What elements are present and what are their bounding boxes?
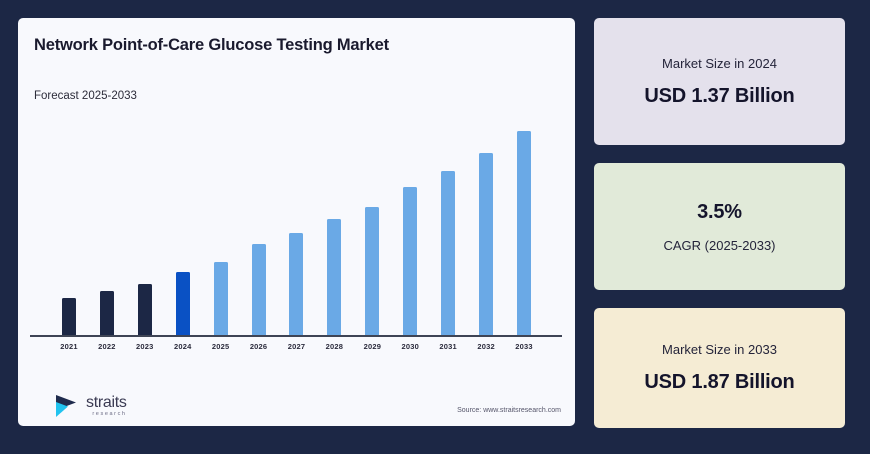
bar-2028[interactable] — [327, 219, 341, 336]
x-tick-2025: 2025 — [202, 342, 240, 351]
source-attribution: Source: www.straitsresearch.com — [457, 407, 561, 414]
stat-card-value: USD 1.37 Billion — [644, 85, 794, 108]
bar-2023[interactable] — [138, 284, 152, 336]
bar-slot-2033 — [505, 118, 543, 336]
bar-slot-2027 — [278, 118, 316, 336]
stat-card-cagr: 3.5%CAGR (2025-2033) — [594, 163, 845, 290]
bar-slot-2021 — [50, 118, 88, 336]
bar-slot-2022 — [88, 118, 126, 336]
bar-2022[interactable] — [100, 291, 114, 336]
stat-card-market-size-2033: Market Size in 2033USD 1.87 Billion — [594, 308, 845, 428]
stat-card-label: Market Size in 2033 — [662, 342, 777, 357]
bar-2024[interactable] — [176, 272, 190, 336]
logo-wordmark: straits research — [86, 395, 127, 418]
stat-card-label: CAGR (2025-2033) — [664, 238, 776, 253]
bar-slot-2024 — [164, 118, 202, 336]
bar-chart-plot — [34, 118, 559, 336]
x-tick-2021: 2021 — [50, 342, 88, 351]
bar-2033[interactable] — [517, 131, 531, 336]
stat-card-value: USD 1.87 Billion — [644, 371, 794, 394]
bar-2027[interactable] — [289, 233, 303, 336]
straits-research-logo: straits research — [54, 393, 127, 419]
bar-2030[interactable] — [403, 187, 417, 336]
infographic-root: Network Point-of-Care Glucose Testing Ma… — [0, 0, 870, 454]
stat-card-market-size-2024: Market Size in 2024USD 1.37 Billion — [594, 18, 845, 145]
chart-panel: Network Point-of-Care Glucose Testing Ma… — [18, 18, 575, 426]
bar-2026[interactable] — [252, 244, 266, 336]
bar-2021[interactable] — [62, 298, 76, 336]
x-tick-2023: 2023 — [126, 342, 164, 351]
chart-subtitle: Forecast 2025-2033 — [34, 90, 137, 102]
bar-slot-2031 — [429, 118, 467, 336]
bar-slot-2029 — [353, 118, 391, 336]
x-axis-line — [30, 335, 562, 337]
bar-slot-2032 — [467, 118, 505, 336]
stat-card-label: Market Size in 2024 — [662, 56, 777, 71]
bar-slot-2025 — [202, 118, 240, 336]
logo-arrow-icon — [54, 393, 82, 419]
bar-2031[interactable] — [441, 171, 455, 336]
x-tick-2033: 2033 — [505, 342, 543, 351]
bar-slot-2028 — [315, 118, 353, 336]
x-tick-2024: 2024 — [164, 342, 202, 351]
stat-card-value: 3.5% — [697, 201, 742, 224]
x-tick-2032: 2032 — [467, 342, 505, 351]
x-tick-2028: 2028 — [315, 342, 353, 351]
x-axis-tick-labels: 2021202220232024202520262027202820292030… — [34, 342, 559, 351]
x-tick-2022: 2022 — [88, 342, 126, 351]
x-tick-2027: 2027 — [278, 342, 316, 351]
page-title: Network Point-of-Care Glucose Testing Ma… — [34, 36, 389, 55]
bar-2032[interactable] — [479, 153, 493, 336]
bar-slot-2030 — [391, 118, 429, 336]
bar-series — [34, 118, 559, 336]
bar-slot-2026 — [240, 118, 278, 336]
bar-2025[interactable] — [214, 262, 228, 336]
x-tick-2031: 2031 — [429, 342, 467, 351]
bar-2029[interactable] — [365, 207, 379, 336]
logo-name: straits — [86, 395, 127, 411]
x-tick-2029: 2029 — [353, 342, 391, 351]
bar-slot-2023 — [126, 118, 164, 336]
x-tick-2026: 2026 — [240, 342, 278, 351]
x-tick-2030: 2030 — [391, 342, 429, 351]
logo-subtitle: research — [86, 412, 127, 418]
